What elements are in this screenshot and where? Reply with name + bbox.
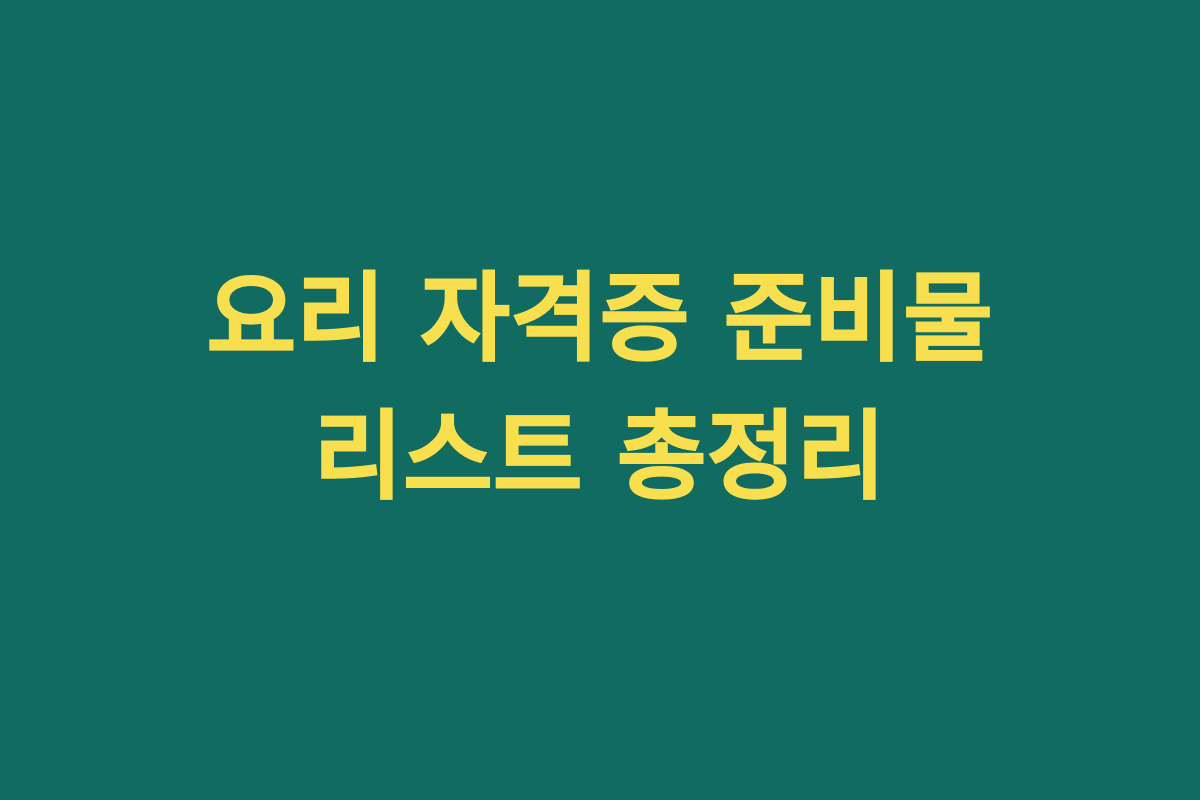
title-block: 요리 자격증 준비물 리스트 총정리 — [70, 250, 1130, 525]
banner-canvas: 요리 자격증 준비물 리스트 총정리 — [0, 0, 1200, 800]
page-title: 요리 자격증 준비물 리스트 총정리 — [70, 250, 1130, 525]
